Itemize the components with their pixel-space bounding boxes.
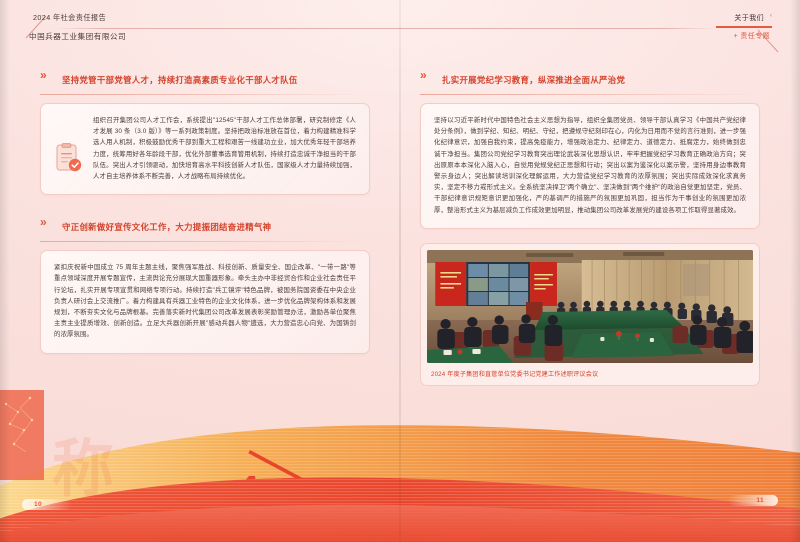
- report-spread-page: 称 2024 年社会责任报告 中国兵器工业集团有限公司 关于我们 ‹ + 责任专…: [0, 0, 800, 542]
- double-chevron-right-icon: »: [420, 69, 424, 81]
- page-header: 2024 年社会责任报告 中国兵器工业集团有限公司 关于我们 ‹ + 责任专题: [0, 0, 800, 58]
- chevron-left-icon: ‹: [770, 13, 772, 19]
- discipline-body-text: 坚持以习近平新时代中国特色社会主义思想为指导，组织全集团党员、领导干部认真学习《…: [434, 115, 746, 216]
- report-title: 2024 年社会责任报告: [33, 13, 106, 23]
- page-number-left: 10: [22, 499, 72, 510]
- section-heading-discipline: » 扎实开展党纪学习教育，纵深推进全面从严治党: [420, 70, 760, 95]
- culture-text-card: 紧扣庆祝新中国成立 75 周年主题主线，聚焦强军胜战、科技创新、质量安全、国企改…: [40, 250, 370, 353]
- left-page-column: » 坚持党管干部党管人才，持续打造高素质专业化干部人才队伍 组织召开集团公司人才…: [40, 70, 370, 354]
- heading-rule: [40, 94, 370, 95]
- section-heading-culture: » 守正创新做好宣传文化工作，大力提振团结奋进精气神: [40, 217, 370, 242]
- section-heading-text: 扎实开展党纪学习教育，纵深推进全面从严治党: [442, 75, 625, 85]
- section-heading-talent: » 坚持党管干部党管人才，持续打造高素质专业化干部人才队伍: [40, 70, 370, 95]
- bottom-decorative-artwork: [0, 392, 800, 542]
- talent-text-card: 组织召开集团公司人才工作会，系统提出"12545"干部人才工作总体部署，研究制修…: [40, 103, 370, 195]
- artwork-svg: [0, 392, 800, 542]
- right-page-column: » 扎实开展党纪学习教育，纵深推进全面从严治党 坚持以习近平新时代中国特色社会主…: [420, 70, 760, 386]
- meeting-photo-illustration: [427, 250, 753, 363]
- culture-body-text: 紧扣庆祝新中国成立 75 周年主题主线，聚焦强军胜战、科技创新、质量安全、国企改…: [54, 262, 356, 340]
- talent-body-text: 组织召开集团公司人才工作会，系统提出"12545"干部人才工作总体部署，研究制修…: [93, 115, 356, 182]
- nav-responsibility-topic[interactable]: + 责任专题: [734, 31, 770, 41]
- page-number-right: 11: [728, 495, 778, 506]
- meeting-photo-card: 2024 年度子集团和直管单位党委书记党建工作述职评议会议: [420, 243, 760, 386]
- double-chevron-right-icon: »: [40, 216, 44, 228]
- discipline-text-card: 坚持以习近平新时代中国特色社会主义思想为指导，组织全集团党员、领导干部认真学习《…: [420, 103, 760, 229]
- photo-caption: 2024 年度子集团和直管单位党委书记党建工作述职评议会议: [427, 363, 753, 385]
- nav-about-us[interactable]: 关于我们: [734, 13, 764, 23]
- page-edge-left-shadow: [0, 0, 10, 542]
- nav-active-underline: [716, 26, 772, 28]
- page-edge-right-shadow: [790, 0, 800, 542]
- company-name: 中国兵器工业集团有限公司: [29, 31, 126, 42]
- heading-rule: [420, 94, 760, 95]
- section-heading-text: 守正创新做好宣传文化工作，大力提振团结奋进精气神: [62, 222, 271, 232]
- section-heading-text: 坚持党管干部党管人才，持续打造高素质专业化干部人才队伍: [62, 75, 298, 85]
- document-checklist-icon: [53, 142, 83, 174]
- watermark-glyph: 称: [52, 418, 114, 508]
- double-chevron-right-icon: »: [40, 69, 44, 81]
- heading-rule: [40, 241, 370, 242]
- meeting-photo: [427, 250, 753, 363]
- header-divider: [55, 28, 715, 29]
